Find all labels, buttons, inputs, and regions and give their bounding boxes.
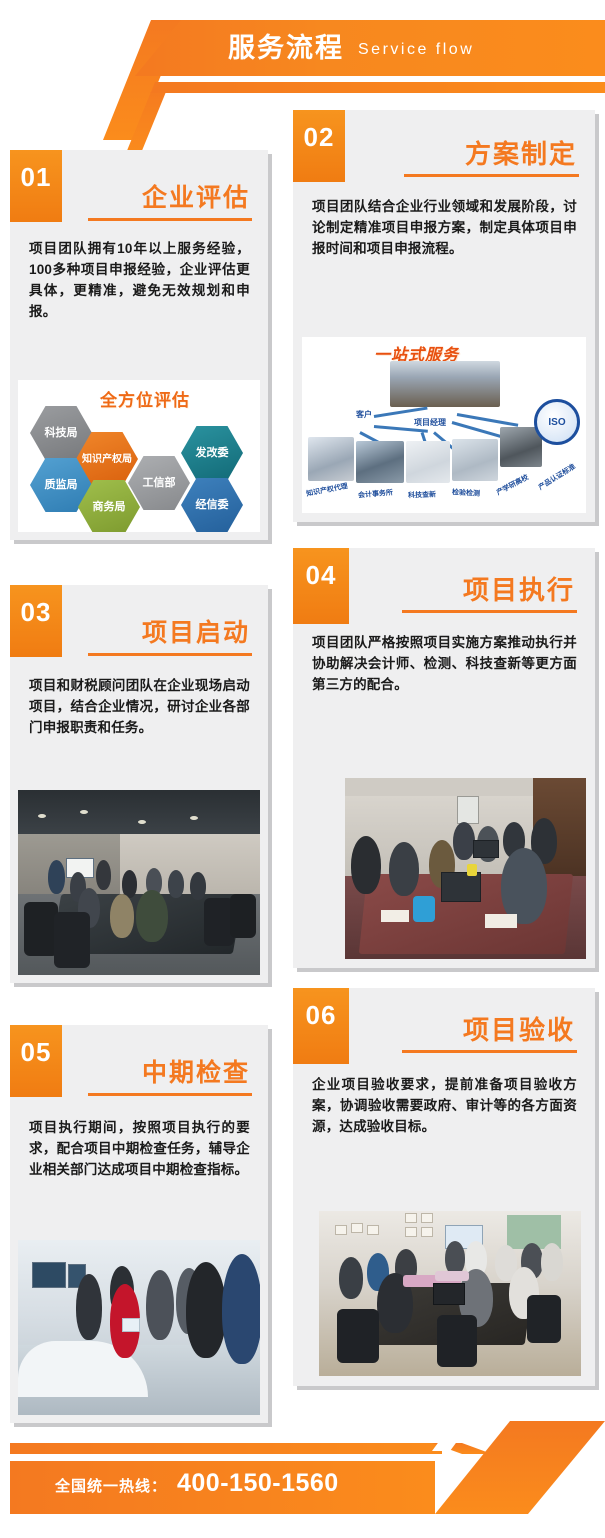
step-card-06: 06 项目验收 企业项目验收要求，提前准备项目验收方案，协调验收需要政府、审计等…: [293, 988, 595, 1386]
collage-thumb-4: [500, 427, 542, 467]
photo-acceptance-meeting: [319, 1211, 581, 1376]
collage-thumb-1: [356, 441, 404, 483]
card-description: 企业项目验收要求，提前准备项目验收方案，协调验收需要政府、审计等的各方面资源，达…: [312, 1074, 577, 1137]
hex-node-label: 经信委: [196, 499, 229, 512]
collage-label-1: 会计事务所: [358, 487, 394, 500]
hex-node-2: 发改委: [181, 426, 243, 480]
collage-thumb-3: [452, 439, 498, 481]
hex-node-label: 科技局: [45, 427, 78, 440]
collage-node-customer: 客户: [356, 409, 372, 420]
collage-label-4: 产学研高校: [495, 472, 531, 497]
page-header: 服务流程 Service flow: [0, 0, 605, 110]
card-title: 方案制定: [465, 134, 577, 171]
title-underline: [88, 653, 252, 656]
card-title: 中期检查: [142, 1053, 250, 1089]
page-footer: 全国统一热线： 400-150-1560: [0, 1403, 605, 1538]
hex-node-label: 商务局: [93, 501, 126, 514]
step-card-01: 01 企业评估 项目团队拥有10年以上服务经验，100多种项目申报经验，企业评估…: [10, 150, 268, 540]
collage-label-5: 产品认证标准: [537, 462, 578, 493]
card-description: 项目团队拥有10年以上服务经验，100多种项目申报经验，企业评估更具体，更精准，…: [29, 238, 250, 322]
card-title: 项目验收: [463, 1010, 575, 1047]
hex-node-label: 质监局: [45, 479, 78, 492]
page-title: 服务流程: [228, 28, 344, 68]
step-card-04: 04 项目执行 项目团队严格按照项目实施方案推动执行并协助解决会计师、检测、科技…: [293, 548, 595, 968]
card-description: 项目团队严格按照项目实施方案推动执行并协助解决会计师、检测、科技查新等更方面第三…: [312, 632, 577, 695]
step-card-03: 03 项目启动 项目和财税顾问团队在企业现场启动项目，结合企业情况，研讨企业各部…: [10, 585, 268, 983]
title-underline: [402, 1050, 577, 1053]
card-title: 项目执行: [463, 570, 575, 607]
footer-stripe: [10, 1443, 442, 1454]
title-underline: [402, 610, 577, 613]
collage-thumb-2: [406, 441, 450, 483]
collage-label-2: 科技查新: [408, 490, 436, 501]
photo-showroom-visit: [18, 1240, 260, 1415]
collage-node-manager: 项目经理: [414, 417, 446, 428]
collage-label-3: 检验检测: [452, 487, 480, 498]
step-number-badge: 06: [293, 988, 349, 1064]
hexagon-diagram: 全方位评估 科技局 知识产权局 发改委 质监局 工信部 商务局 经信委: [18, 380, 260, 532]
step-number-badge: 05: [10, 1025, 62, 1097]
hexagon-diagram-title: 全方位评估: [100, 386, 190, 411]
page-subtitle: Service flow: [358, 38, 474, 62]
card-title: 企业评估: [142, 178, 250, 214]
collage-thumb-0: [308, 437, 354, 481]
hotline-phone[interactable]: 400-150-1560: [177, 1469, 339, 1498]
step-number-badge: 02: [293, 110, 345, 182]
service-collage: 一站式服务 客户 项目经理 ISO 知识产权代理: [302, 337, 586, 513]
step-number-badge: 04: [293, 548, 349, 624]
hex-node-label: 知识产权局: [82, 453, 132, 466]
step-card-05: 05 中期检查 项目执行期间，按照项目执行的要求，配合项目中期检查任务，辅导企业…: [10, 1025, 268, 1423]
card-description: 项目执行期间，按照项目执行的要求，配合项目中期检查任务，辅导企业相关部门达成项目…: [29, 1117, 250, 1180]
title-underline: [404, 174, 579, 177]
card-description: 项目团队结合企业行业领域和发展阶段，讨论制定精准项目申报方案，制定具体项目申报时…: [312, 196, 577, 259]
title-underline: [88, 1093, 252, 1096]
title-underline: [88, 218, 252, 221]
photo-meeting-laptops: [345, 778, 586, 959]
photo-conference-room: [18, 790, 260, 975]
card-title: 项目启动: [142, 613, 250, 649]
hex-node-label: 工信部: [143, 477, 176, 490]
iso-seal-icon: ISO: [534, 399, 580, 445]
hex-node-6: 经信委: [181, 478, 243, 532]
step-card-02: 02 方案制定 项目团队结合企业行业领域和发展阶段，讨论制定精准项目申报方案，制…: [293, 110, 595, 522]
iso-seal-label: ISO: [548, 417, 565, 428]
hotline-label: 全国统一热线：: [55, 1475, 167, 1496]
hex-node-4: 工信部: [128, 456, 190, 510]
header-band-thin: [150, 82, 605, 93]
collage-label-0: 知识产权代理: [305, 481, 348, 499]
step-number-badge: 03: [10, 585, 62, 657]
service-flow-infographic: 服务流程 Service flow 01 企业评估 项目团队拥有10年以上服务经…: [0, 0, 605, 1538]
step-number-badge: 01: [10, 150, 62, 222]
hex-node-label: 发改委: [196, 447, 229, 460]
collage-photo-meeting: [390, 361, 500, 407]
card-description: 项目和财税顾问团队在企业现场启动项目，结合企业情况，研讨企业各部门申报职责和任务…: [29, 675, 250, 738]
